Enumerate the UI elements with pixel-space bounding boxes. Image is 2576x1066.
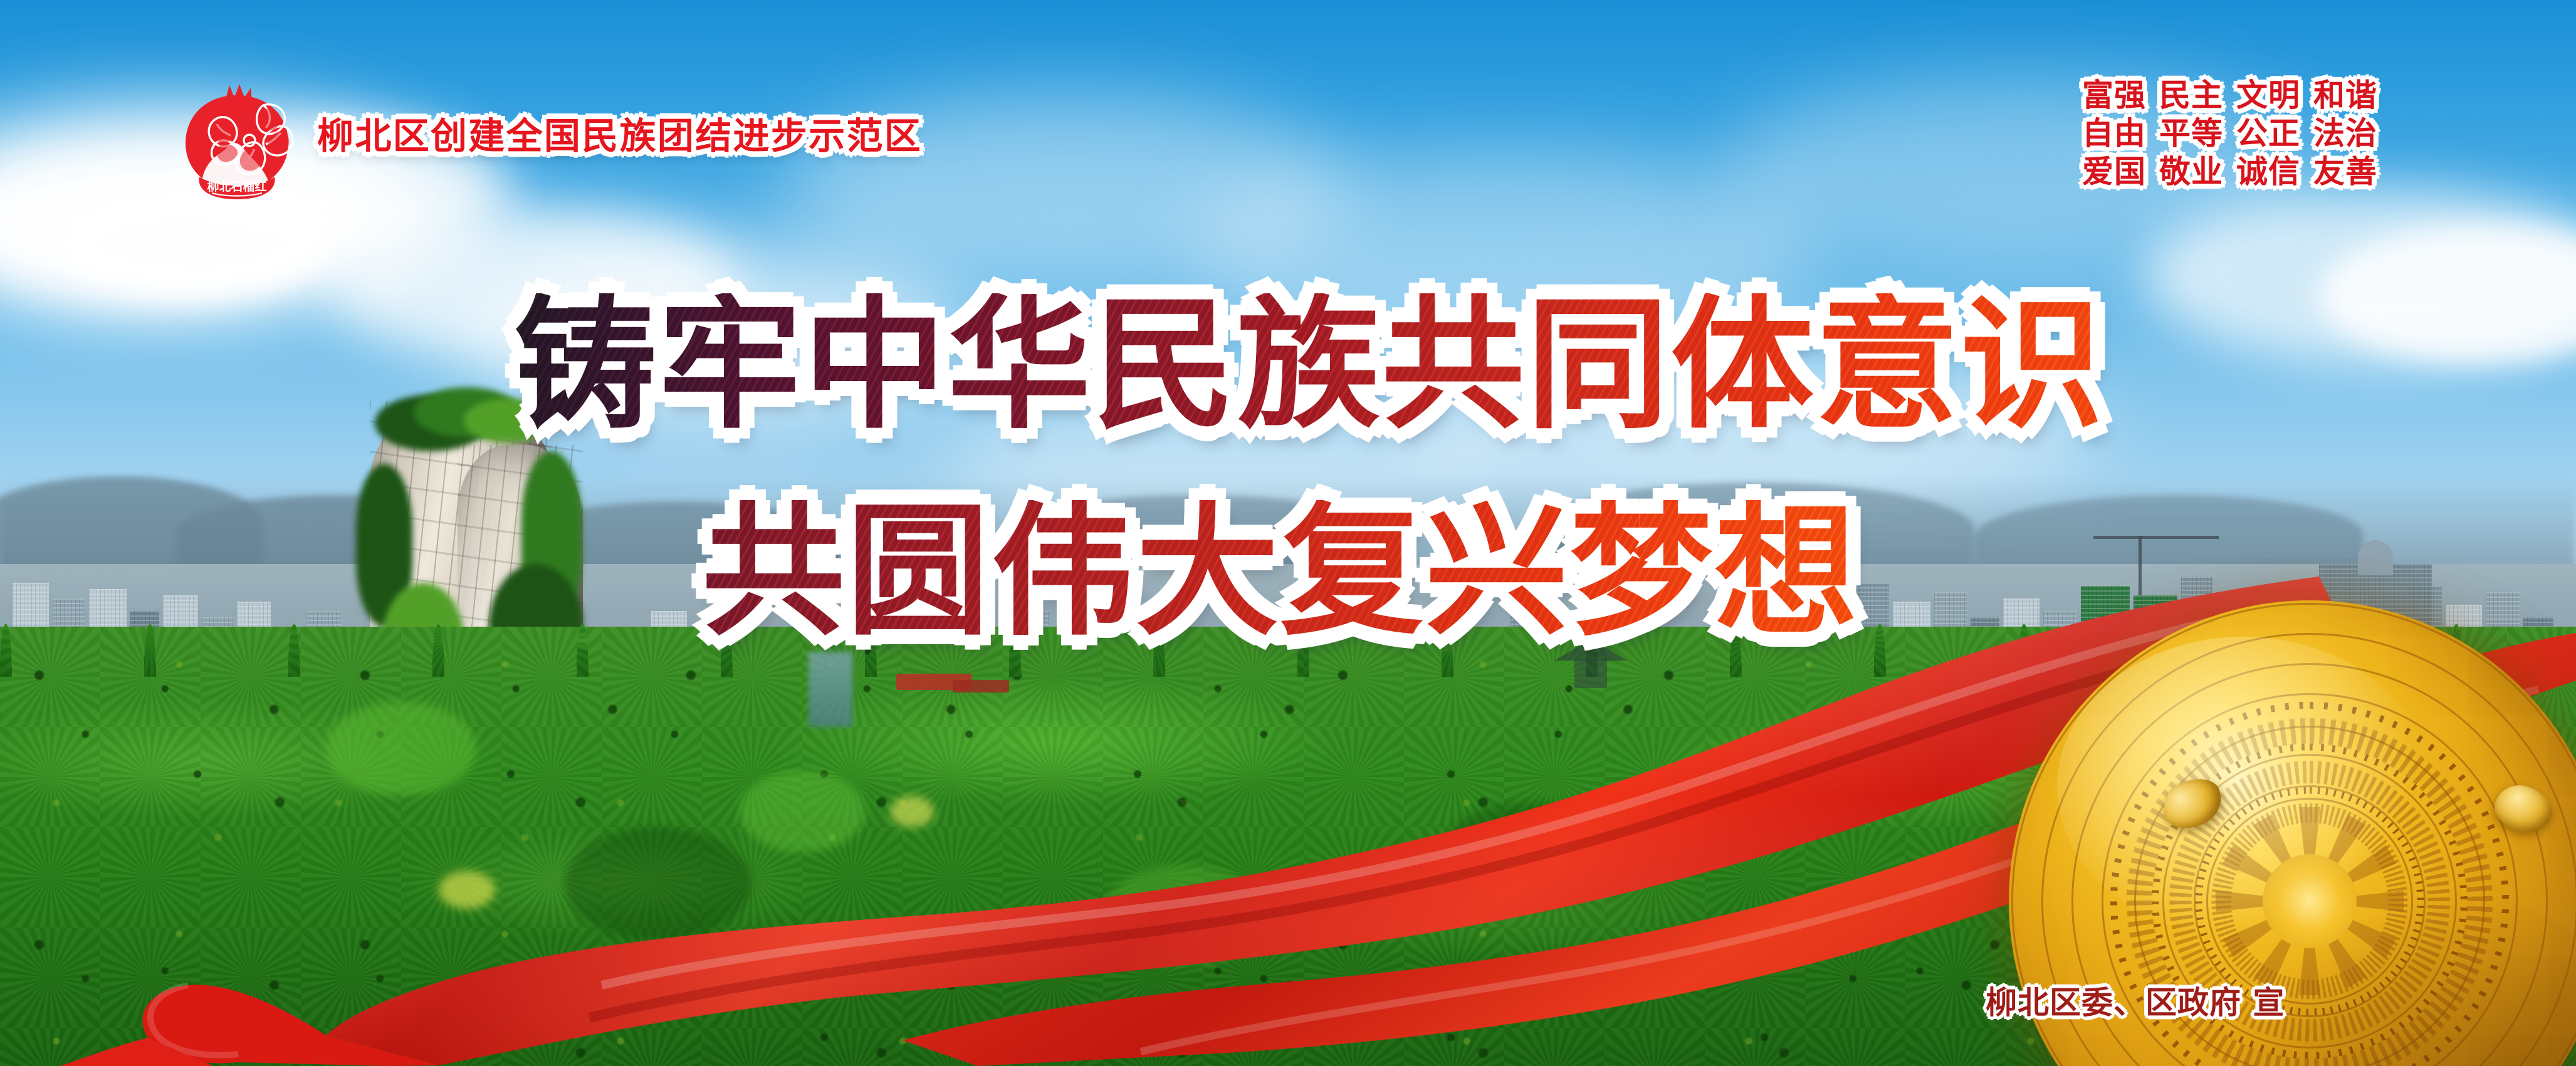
core-value-word: 文明 <box>2236 77 2300 113</box>
core-value-word: 富强 <box>2082 77 2146 113</box>
forest-highlight-yellow <box>439 871 495 909</box>
forest-shadow <box>564 827 752 940</box>
core-value-word: 平等 <box>2159 115 2223 152</box>
forest-highlight <box>740 771 865 852</box>
core-values-row: 自由平等公正法治 <box>2082 115 2377 153</box>
core-value-word: 公正 <box>2236 115 2300 152</box>
core-value-word: 爱国 <box>2082 154 2146 190</box>
river-water <box>809 652 852 727</box>
banner-canvas: 柳北石榴红 柳北区创建全国民族团结进步示范区 富强民主文明和谐 自由平等公正法治… <box>0 0 2576 1066</box>
forest-shadow <box>1442 802 1617 909</box>
main-headline: 铸牢中华民族共同体意识 铸牢中华民族共同体意识 <box>514 293 2105 450</box>
core-value-word: 和谐 <box>2313 77 2377 113</box>
forest-highlight <box>326 702 476 796</box>
pagoda-icon <box>1574 659 1607 688</box>
main-headline-second: 共圆伟大复兴梦想 共圆伟大复兴梦想 <box>702 500 1859 657</box>
headline-line-2-fill: 共圆伟大复兴梦想 <box>702 500 1859 643</box>
attribution-text: 柳北区委、区政府 宣 <box>1986 978 2285 1023</box>
forest-highlight <box>1692 739 1843 833</box>
core-value-word: 法治 <box>2313 115 2377 152</box>
core-value-word: 敬业 <box>2159 154 2223 190</box>
crane-icon <box>2093 536 2219 539</box>
page-title: 柳北区创建全国民族团结进步示范区 <box>317 107 922 159</box>
dome-icon <box>2358 540 2393 575</box>
core-values-row: 富强民主文明和谐 <box>2082 76 2377 115</box>
core-value-word: 民主 <box>2159 77 2223 113</box>
core-value-word: 诚信 <box>2236 154 2300 190</box>
headline-line-2: 共圆伟大复兴梦想 共圆伟大复兴梦想 <box>702 500 1859 657</box>
headline-line-1-fill: 铸牢中华民族共同体意识 <box>514 293 2105 436</box>
pomegranate-logo-icon: 柳北石榴红 <box>177 83 297 199</box>
riverside-roof <box>953 680 1009 692</box>
core-values-row: 爱国敬业诚信友善 <box>2082 153 2377 191</box>
crane-icon <box>2139 536 2142 595</box>
core-value-word: 友善 <box>2313 154 2377 190</box>
core-value-word: 自由 <box>2082 115 2146 152</box>
forest-highlight-yellow <box>890 796 934 827</box>
core-socialist-values: 富强民主文明和谐 自由平等公正法治 爱国敬业诚信友善 <box>2082 76 2377 191</box>
forest-highlight <box>1103 865 1266 965</box>
drum-highlight <box>2057 637 2430 938</box>
logo-ribbon-text: 柳北石榴红 <box>207 179 266 194</box>
headline-line-1: 铸牢中华民族共同体意识 铸牢中华民族共同体意识 <box>514 293 2105 450</box>
